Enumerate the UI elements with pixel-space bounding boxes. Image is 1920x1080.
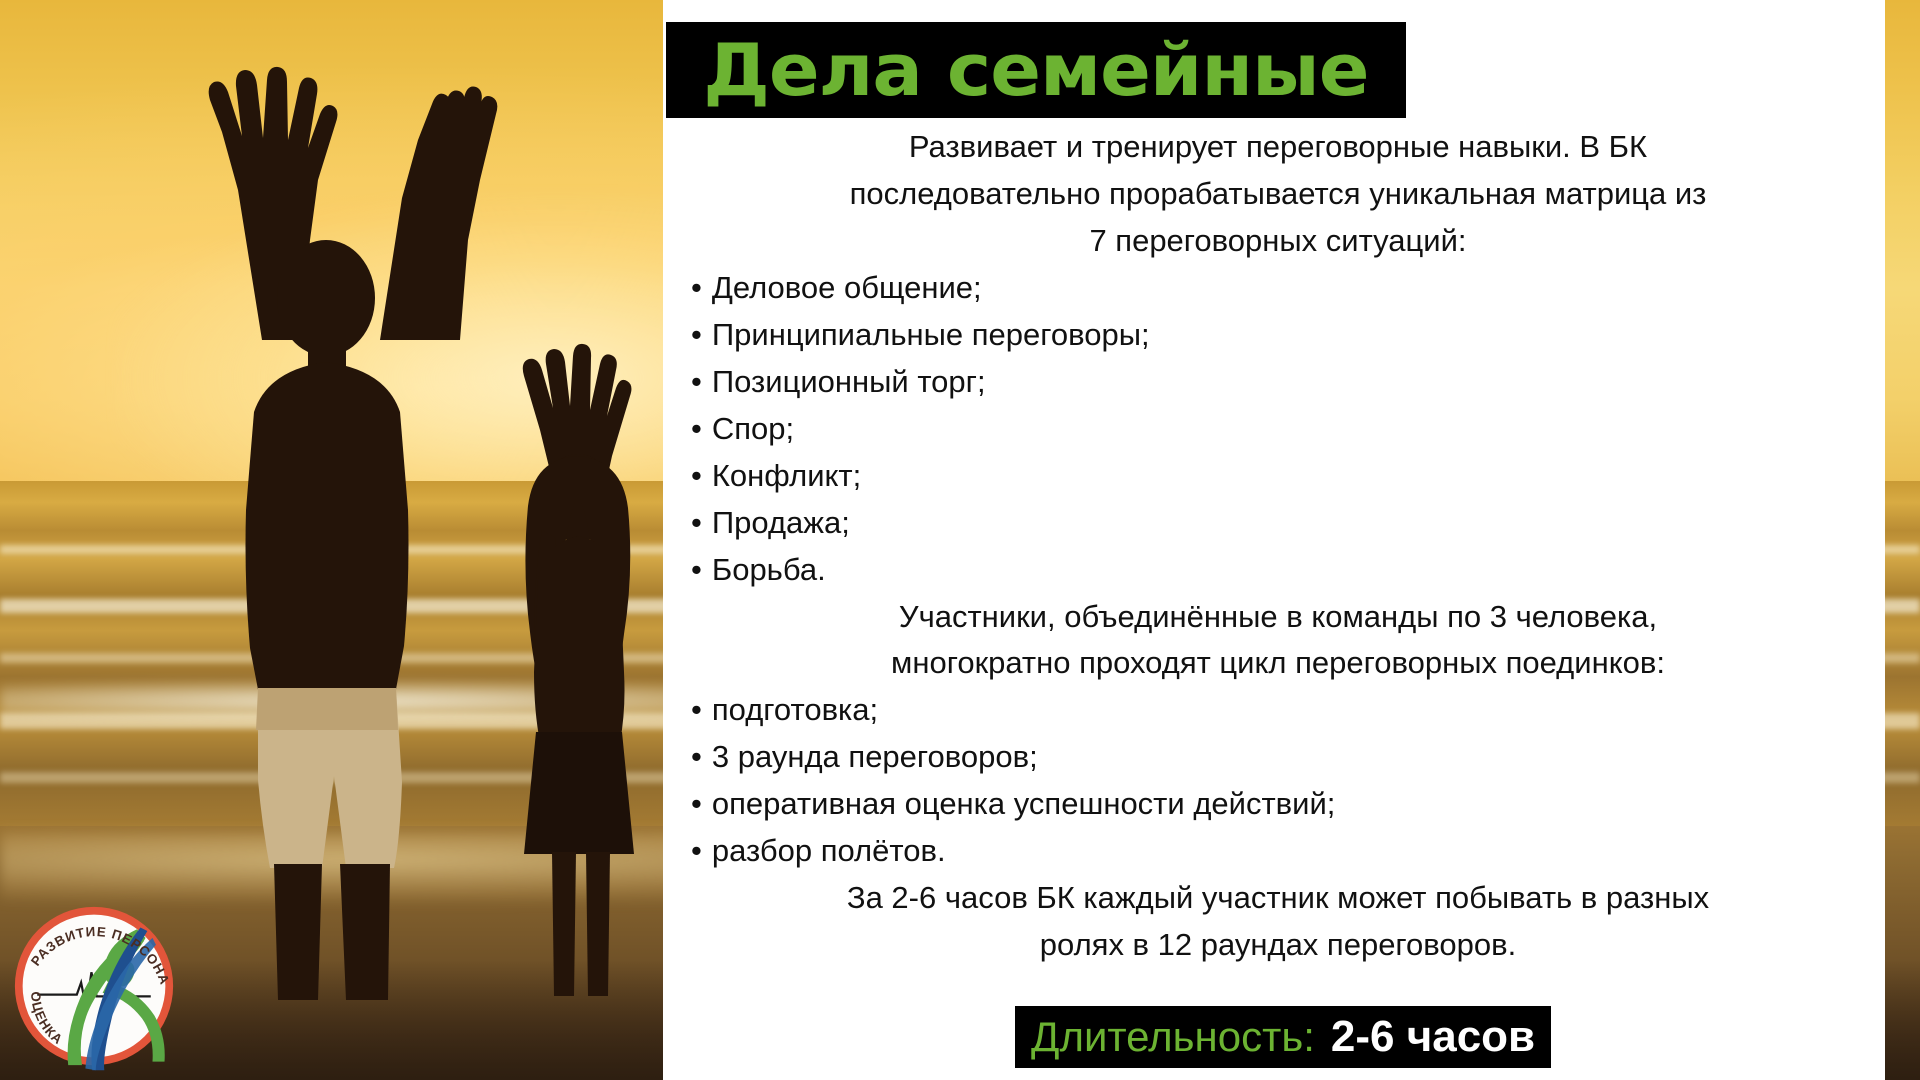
content-panel: Дела семейные Развивает и тренирует пере… [663, 0, 1885, 1080]
list-item: •Принципиальные переговоры; [673, 312, 1883, 359]
body-text: Развивает и тренирует переговорные навык… [673, 124, 1883, 969]
list-item: •Позиционный торг; [673, 359, 1883, 406]
bullet-icon: • [691, 739, 702, 774]
second-paragraph: Участники, объединённые в команды по 3 ч… [673, 594, 1883, 688]
second-line: многократно проходят цикл переговорных п… [687, 640, 1869, 687]
list-item-label: Спор; [712, 411, 794, 446]
list-item-label: Конфликт; [712, 458, 861, 493]
bullet-icon: • [691, 411, 702, 446]
list-item: •Деловое общение; [673, 265, 1883, 312]
bullet-icon: • [691, 552, 702, 587]
list-item: •Спор; [673, 406, 1883, 453]
list-item: •разбор полётов. [673, 828, 1883, 875]
list-item-label: подготовка; [712, 692, 878, 727]
man-silhouette [150, 40, 510, 1000]
list-item: •Конфликт; [673, 453, 1883, 500]
bullet-icon: • [691, 833, 702, 868]
list-item: •оперативная оценка успешности действий; [673, 781, 1883, 828]
list-item: •3 раунда переговоров; [673, 734, 1883, 781]
situations-list: •Деловое общение; •Принципиальные перего… [673, 265, 1883, 594]
intro-line: Развивает и тренирует переговорные навык… [687, 124, 1869, 171]
bullet-icon: • [691, 505, 702, 540]
bullet-icon: • [691, 458, 702, 493]
bullet-icon: • [691, 317, 702, 352]
list-item-label: 3 раунда переговоров; [712, 739, 1038, 774]
list-item: •подготовка; [673, 687, 1883, 734]
page-title: Дела семейные [703, 34, 1368, 106]
company-logo: РАЗВИТИЕ ПЕРСОНАЛА ОЦЕНКА И [8, 900, 180, 1072]
list-item: •Продажа; [673, 500, 1883, 547]
list-item-label: Продажа; [712, 505, 850, 540]
list-item-label: разбор полётов. [712, 833, 946, 868]
bullet-icon: • [691, 364, 702, 399]
cycle-list: •подготовка; •3 раунда переговоров; •опе… [673, 687, 1883, 875]
bullet-icon: • [691, 692, 702, 727]
intro-line: 7 переговорных ситуаций: [687, 218, 1869, 265]
list-item-label: оперативная оценка успешности действий; [712, 786, 1336, 821]
bullet-icon: • [691, 270, 702, 305]
intro-paragraph: Развивает и тренирует переговорные навык… [673, 124, 1883, 265]
duration-label: Длительность: [1031, 1013, 1315, 1061]
duration-value: 2-6 часов [1331, 1012, 1535, 1062]
title-band: Дела семейные [666, 22, 1406, 118]
closing-line: За 2-6 часов БК каждый участник может по… [687, 875, 1869, 922]
duration-bar: Длительность: 2-6 часов [1015, 1006, 1551, 1068]
list-item-label: Деловое общение; [712, 270, 982, 305]
list-item-label: Принципиальные переговоры; [712, 317, 1150, 352]
list-item-label: Борьба. [712, 552, 826, 587]
intro-line: последовательно прорабатывается уникальн… [687, 171, 1869, 218]
closing-paragraph: За 2-6 часов БК каждый участник может по… [673, 875, 1883, 969]
list-item: •Борьба. [673, 547, 1883, 594]
list-item-label: Позиционный торг; [712, 364, 986, 399]
second-line: Участники, объединённые в команды по 3 ч… [687, 594, 1869, 641]
closing-line: ролях в 12 раундах переговоров. [687, 922, 1869, 969]
bullet-icon: • [691, 786, 702, 821]
slide: РАЗВИТИЕ ПЕРСОНАЛА ОЦЕНКА И Дела семейны… [0, 0, 1920, 1080]
